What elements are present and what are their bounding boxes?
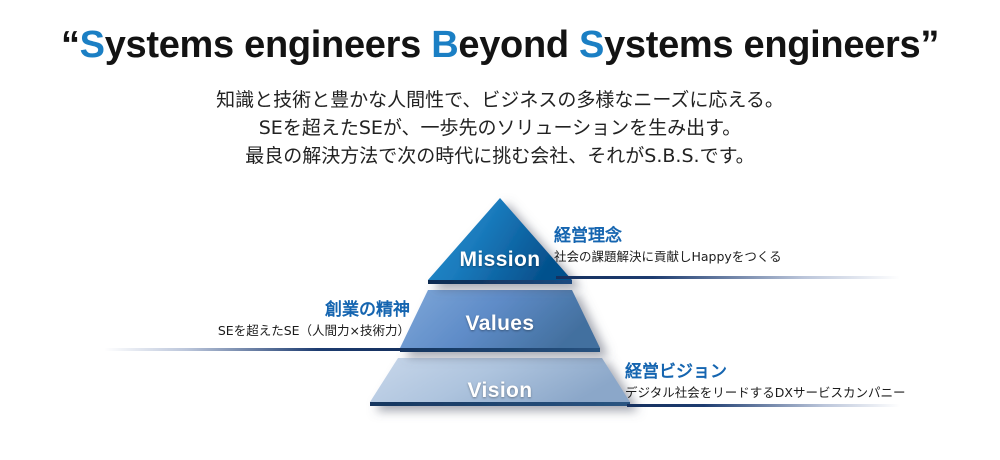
title-segment-3: ystems engineers — [604, 24, 920, 66]
callout-vision-description: デジタル社会をリードするDXサービスカンパニー — [625, 384, 905, 401]
page-title: “Systems engineers Beyond Systems engine… — [0, 24, 1000, 67]
callout-values-heading: 創業の精神 — [150, 300, 410, 321]
subtitle-line-3: 最良の解決方法で次の時代に挑む会社、それがS.B.S.です。 — [0, 142, 1000, 170]
title-segment-2: eyond — [458, 24, 579, 66]
title-highlight-s2: S — [579, 24, 604, 66]
callout-mission: 経営理念 社会の課題解決に貢献しHappyをつくる — [554, 226, 782, 265]
callout-mission-heading: 経営理念 — [554, 226, 782, 247]
title-highlight-s1: S — [80, 24, 105, 66]
callout-values-description: SEを超えたSE（人間力×技術力） — [150, 322, 410, 339]
callout-mission-description: 社会の課題解決に貢献しHappyをつくる — [554, 248, 782, 265]
title-highlight-b: B — [431, 24, 458, 66]
pyramid-tier-values[interactable] — [400, 290, 600, 352]
subtitle-block: 知識と技術と豊かな人間性で、ビジネスの多様なニーズに応える。 SEを超えたSEが… — [0, 86, 1000, 170]
pyramid-tier-mission[interactable] — [428, 198, 572, 284]
subtitle-line-2: SEを超えたSEが、一歩先のソリューションを生み出す。 — [0, 114, 1000, 142]
title-open-quote: “ — [61, 24, 80, 66]
callout-vision: 経営ビジョン デジタル社会をリードするDXサービスカンパニー — [625, 362, 905, 401]
title-close-quote: ” — [920, 24, 939, 66]
pyramid-tier-vision[interactable] — [370, 358, 630, 406]
subtitle-line-1: 知識と技術と豊かな人間性で、ビジネスの多様なニーズに応える。 — [0, 86, 1000, 114]
callout-vision-heading: 経営ビジョン — [625, 362, 905, 383]
title-segment-1: ystems engineers — [105, 24, 432, 66]
callout-values: 創業の精神 SEを超えたSE（人間力×技術力） — [150, 300, 410, 339]
leader-line-mission — [556, 276, 900, 279]
leader-line-values — [104, 348, 401, 351]
leader-line-vision — [627, 404, 900, 407]
